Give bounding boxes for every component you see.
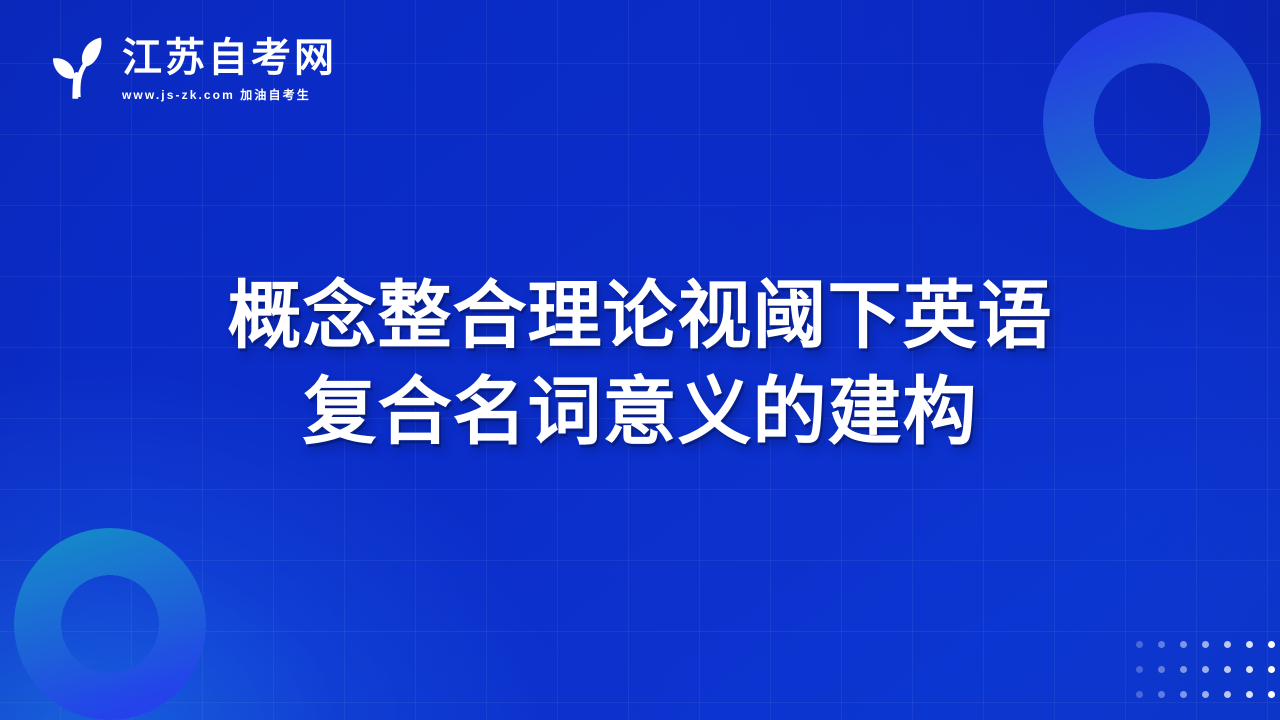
title-line-1: 概念整合理论视阈下英语	[70, 268, 1210, 364]
logo-text-block: 江苏自考网 www.js-zk.com 加油自考生	[122, 35, 337, 101]
dot	[1224, 691, 1231, 698]
dot	[1268, 666, 1275, 673]
brand-tagline: www.js-zk.com 加油自考生	[122, 89, 311, 101]
dot	[1246, 666, 1253, 673]
dot	[1246, 691, 1253, 698]
decorative-dot-matrix	[1128, 632, 1280, 707]
decorative-ring-bottom-left	[14, 528, 206, 720]
dot	[1246, 641, 1253, 648]
brand-name: 江苏自考网	[122, 37, 337, 79]
dot	[1136, 691, 1143, 698]
dot	[1268, 641, 1275, 648]
slide-canvas: 江苏自考网 www.js-zk.com 加油自考生 概念整合理论视阈下英语 复合…	[0, 0, 1280, 720]
dot	[1224, 641, 1231, 648]
dot	[1158, 691, 1165, 698]
dot	[1180, 641, 1187, 648]
dot	[1202, 641, 1209, 648]
dot	[1180, 666, 1187, 673]
sprout-icon	[30, 26, 114, 110]
site-logo[interactable]: 江苏自考网 www.js-zk.com 加油自考生	[30, 26, 337, 110]
dot	[1136, 666, 1143, 673]
decorative-ring-top-right	[1043, 12, 1261, 230]
dot	[1224, 666, 1231, 673]
title-line-2: 复合名词意义的建构	[70, 364, 1210, 460]
dot	[1202, 691, 1209, 698]
dot	[1158, 641, 1165, 648]
page-title: 概念整合理论视阈下英语 复合名词意义的建构	[0, 268, 1280, 460]
dot	[1158, 666, 1165, 673]
dot	[1136, 641, 1143, 648]
dot	[1180, 691, 1187, 698]
dot	[1202, 666, 1209, 673]
dot	[1268, 691, 1275, 698]
